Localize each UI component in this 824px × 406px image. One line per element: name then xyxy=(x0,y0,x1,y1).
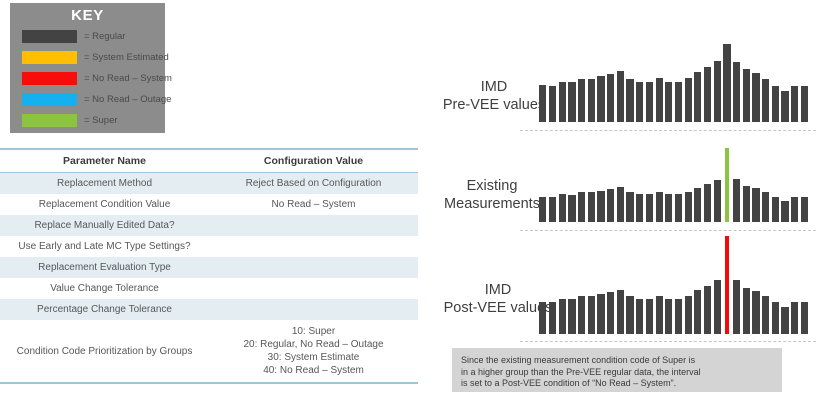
bar xyxy=(694,188,701,222)
bar xyxy=(626,79,633,122)
cell-parameter-name: Percentage Change Tolerance xyxy=(0,299,209,320)
bar xyxy=(626,192,633,222)
bar xyxy=(539,85,546,122)
key-item-no-read-system: = No Read – System xyxy=(10,69,165,87)
bar xyxy=(588,79,595,122)
cell-parameter-name: Replacement Evaluation Type xyxy=(0,257,209,278)
bar xyxy=(743,69,750,122)
cell-configuration-value: No Read – System xyxy=(209,194,418,215)
key-swatch-system-estimated xyxy=(22,51,77,64)
key-item-super: = Super xyxy=(10,111,165,129)
table-row: Value Change Tolerance xyxy=(0,278,418,299)
key-label-super: = Super xyxy=(84,115,118,126)
chart-pre-vee-label: IMD Pre-VEE values xyxy=(440,78,548,114)
bar xyxy=(539,302,546,334)
bar xyxy=(743,186,750,222)
bar xyxy=(733,280,740,334)
table-row: Replacement Condition ValueNo Read – Sys… xyxy=(0,194,418,215)
bar xyxy=(549,302,556,334)
bar xyxy=(743,288,750,334)
bar xyxy=(646,194,653,222)
bar xyxy=(685,296,692,334)
bar xyxy=(578,79,585,122)
caption-text: Since the existing measurement condition… xyxy=(452,348,782,390)
table-row: Replace Manually Edited Data? xyxy=(0,215,418,236)
cell-parameter-name: Replacement Method xyxy=(0,173,209,195)
key-item-no-read-outage: = No Read – Outage xyxy=(10,90,165,108)
bar xyxy=(762,296,769,334)
bar xyxy=(801,197,808,222)
key-label-system-estimated: = System Estimated xyxy=(84,52,169,63)
bar xyxy=(714,61,721,122)
bar xyxy=(597,294,604,334)
cell-configuration-value xyxy=(209,215,418,236)
key-label-regular: = Regular xyxy=(84,31,125,42)
bar xyxy=(675,82,682,122)
bar xyxy=(714,280,721,334)
bar xyxy=(578,192,585,222)
bar xyxy=(617,71,624,122)
cell-parameter-name: Condition Code Prioritization by Groups xyxy=(0,320,209,382)
bar xyxy=(597,76,604,122)
bar xyxy=(597,191,604,222)
bar xyxy=(752,73,759,122)
bar xyxy=(646,82,653,122)
table-row: Use Early and Late MC Type Settings? xyxy=(0,236,418,257)
bar xyxy=(694,72,701,122)
table-header-row: Parameter Name Configuration Value xyxy=(0,150,418,173)
bar xyxy=(617,187,624,222)
bar xyxy=(781,201,788,222)
bar xyxy=(578,296,585,334)
bar xyxy=(636,299,643,334)
bar xyxy=(607,292,614,334)
chart-divider-3 xyxy=(520,341,816,342)
key-label-no-read-system: = No Read – System xyxy=(84,73,172,84)
bar xyxy=(588,296,595,334)
bar xyxy=(801,86,808,122)
bar xyxy=(656,78,663,122)
bar xyxy=(549,86,556,122)
key-title: KEY xyxy=(10,3,165,24)
bar-highlight xyxy=(725,236,729,334)
column-header-configuration-value: Configuration Value xyxy=(209,150,418,173)
bar xyxy=(646,299,653,334)
bar xyxy=(607,189,614,222)
column-header-parameter-name: Parameter Name xyxy=(0,150,209,173)
bar xyxy=(704,67,711,122)
bar xyxy=(801,302,808,334)
parameter-configuration-table: Parameter Name Configuration Value Repla… xyxy=(0,148,418,384)
table-row: Replacement MethodReject Based on Config… xyxy=(0,173,418,195)
key-item-regular: = Regular xyxy=(10,27,165,45)
bar xyxy=(607,74,614,122)
bar xyxy=(665,82,672,122)
bar xyxy=(559,299,566,334)
bar xyxy=(762,192,769,222)
bar xyxy=(568,82,575,122)
table-body: Replacement MethodReject Based on Config… xyxy=(0,173,418,383)
cell-parameter-name: Replacement Condition Value xyxy=(0,194,209,215)
bar xyxy=(656,296,663,334)
cell-configuration-value xyxy=(209,236,418,257)
bar xyxy=(675,194,682,222)
key-swatch-super xyxy=(22,114,77,127)
bar xyxy=(704,286,711,334)
cell-parameter-name: Replace Manually Edited Data? xyxy=(0,215,209,236)
bar xyxy=(665,194,672,222)
caption-callout-box: Since the existing measurement condition… xyxy=(452,348,782,392)
bar xyxy=(791,197,798,222)
bar xyxy=(694,290,701,334)
bar xyxy=(559,194,566,222)
bar xyxy=(772,86,779,122)
cell-configuration-value: 10: Super 20: Regular, No Read – Outage … xyxy=(209,320,418,382)
bar xyxy=(772,197,779,222)
key-legend-box: KEY = Regular= System Estimated= No Read… xyxy=(10,3,165,133)
bar xyxy=(685,78,692,122)
key-item-system-estimated: = System Estimated xyxy=(10,48,165,66)
bar xyxy=(626,296,633,334)
key-swatch-regular xyxy=(22,30,77,43)
key-items-list: = Regular= System Estimated= No Read – S… xyxy=(10,27,165,129)
bar xyxy=(781,307,788,334)
bar xyxy=(559,82,566,122)
bar xyxy=(704,184,711,222)
bar xyxy=(656,192,663,222)
bar xyxy=(636,194,643,222)
bar xyxy=(733,179,740,222)
bar xyxy=(791,302,798,334)
cell-parameter-name: Value Change Tolerance xyxy=(0,278,209,299)
chart-divider-2 xyxy=(520,230,816,231)
bar-highlight xyxy=(725,148,729,222)
bar xyxy=(791,86,798,122)
key-swatch-no-read-outage xyxy=(22,93,77,106)
bar xyxy=(588,192,595,222)
bar xyxy=(772,302,779,334)
bar xyxy=(685,192,692,222)
bar xyxy=(733,62,740,122)
cell-configuration-value xyxy=(209,257,418,278)
table-row: Condition Code Prioritization by Groups1… xyxy=(0,320,418,382)
table-row: Replacement Evaluation Type xyxy=(0,257,418,278)
bar xyxy=(539,197,546,222)
table-row: Percentage Change Tolerance xyxy=(0,299,418,320)
bar xyxy=(723,44,730,122)
cell-configuration-value xyxy=(209,278,418,299)
bar xyxy=(665,299,672,334)
cell-configuration-value: Reject Based on Configuration xyxy=(209,173,418,195)
bar xyxy=(568,299,575,334)
chart-existing-bars xyxy=(538,145,810,222)
bar xyxy=(762,79,769,122)
key-swatch-no-read-system xyxy=(22,72,77,85)
bar xyxy=(549,197,556,222)
bar xyxy=(636,82,643,122)
bar xyxy=(752,291,759,334)
bar xyxy=(714,180,721,222)
bar xyxy=(568,195,575,222)
key-label-no-read-outage: = No Read – Outage xyxy=(84,94,171,105)
cell-configuration-value xyxy=(209,299,418,320)
bar xyxy=(752,188,759,222)
chart-post-vee-bars xyxy=(538,236,810,334)
bar xyxy=(781,91,788,122)
bar xyxy=(675,299,682,334)
cell-parameter-name: Use Early and Late MC Type Settings? xyxy=(0,236,209,257)
bar xyxy=(617,290,624,334)
chart-pre-vee-bars xyxy=(538,10,810,122)
chart-divider-1 xyxy=(520,130,816,131)
chart-existing-label: Existing Measurements xyxy=(434,177,550,213)
